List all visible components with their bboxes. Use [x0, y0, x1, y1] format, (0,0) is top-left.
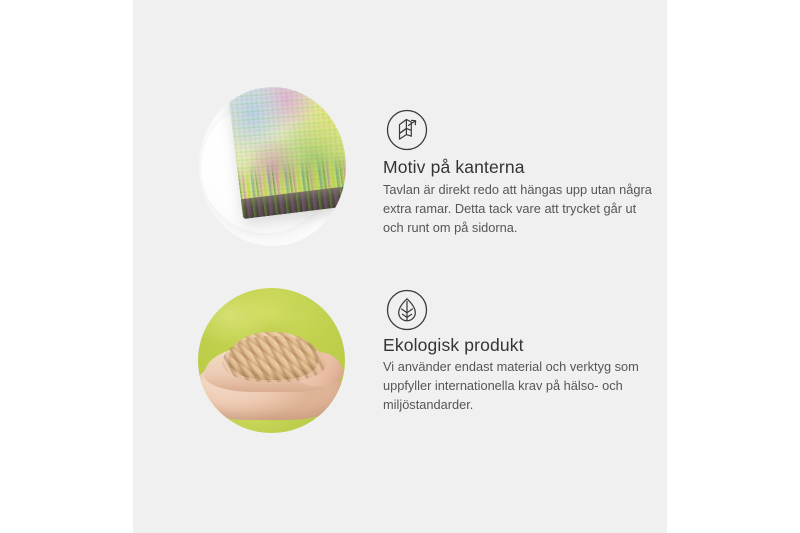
canvas-wrapped-edges-icon: [386, 109, 428, 156]
product-feature-panel: Motiv på kanterna Tavlan är direkt redo …: [0, 0, 800, 533]
center-gray-panel: [133, 0, 667, 533]
wood-chips: [228, 332, 318, 380]
feature-description: Vi använder endast material och verktyg …: [383, 357, 655, 415]
canvas-corner-object: [228, 87, 346, 219]
hands-with-wood-chips-photo: [198, 288, 345, 433]
leaf-icon: [386, 289, 428, 336]
feature-heading: Ekologisk produkt: [383, 335, 524, 356]
feature-description: Tavlan är direkt redo att hängas upp uta…: [383, 180, 655, 238]
canvas-corner-photo: [199, 87, 346, 246]
feature-heading: Motiv på kanterna: [383, 157, 525, 178]
